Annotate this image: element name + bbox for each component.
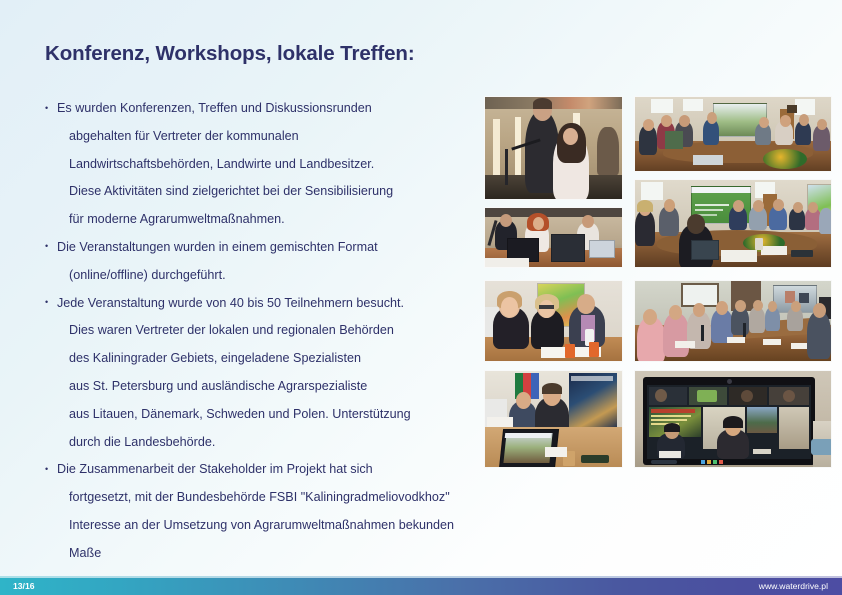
photo-conference-room-green-slide: [634, 179, 832, 268]
bullet-line: Die Veranstaltungen wurden in einem gemi…: [45, 234, 470, 262]
photo-roundtable-presentation: [634, 96, 832, 172]
bullet-line: durch die Landesbehörde.: [45, 429, 470, 457]
photo-long-table-seminar: [634, 280, 832, 362]
list-item: Die Zusammenarbeit der Stakeholder im Pr…: [45, 456, 470, 567]
bullet-line: Diese Aktivitäten sind zielgerichtet bei…: [45, 178, 470, 206]
bullet-line: (online/offline) durchgeführt.: [45, 262, 470, 290]
photo-collage: [484, 96, 832, 468]
bullet-line: Interesse an der Umsetzung von Agrarumwe…: [45, 512, 470, 540]
bullet-line: für moderne Agrarumweltmaßnahmen.: [45, 206, 470, 234]
bullet-line: aus Litauen, Dänemark, Schweden und Pole…: [45, 401, 470, 429]
bullet-line: Dies waren Vertreter der lokalen und reg…: [45, 317, 470, 345]
bullet-line: Die Zusammenarbeit der Stakeholder im Pr…: [45, 456, 470, 484]
bullet-line: abgehalten für Vertreter der kommunalen: [45, 123, 470, 151]
bullet-line: fortgesetzt, mit der Bundesbehörde FSBI …: [45, 484, 470, 512]
photo-online-meeting-desk: [484, 207, 623, 268]
bullet-line: Jede Veranstaltung wurde von 40 bis 50 T…: [45, 290, 470, 318]
page-title: Konferenz, Workshops, lokale Treffen:: [45, 42, 415, 66]
bullet-line: Maße: [45, 540, 470, 568]
photo-panel-with-flags: [484, 370, 623, 468]
page-number: 13/16: [13, 578, 35, 595]
photo-video-conference-screen: [634, 370, 832, 468]
bullet-list: Es wurden Konferenzen, Treffen und Disku…: [45, 95, 470, 568]
footer-bar: 13/16 www.waterdrive.pl: [0, 578, 842, 595]
list-item: Jede Veranstaltung wurde von 40 bis 50 T…: [45, 290, 470, 457]
bullet-line: Landwirtschaftsbehörden, Landwirte und L…: [45, 151, 470, 179]
list-item: Es wurden Konferenzen, Treffen und Disku…: [45, 95, 470, 234]
footer-website-link[interactable]: www.waterdrive.pl: [759, 578, 828, 595]
bullet-line: aus St. Petersburg und ausländische Agra…: [45, 373, 470, 401]
bullet-line: des Kaliningrader Gebiets, eingeladene S…: [45, 345, 470, 373]
bullet-line: Es wurden Konferenzen, Treffen und Disku…: [45, 95, 470, 123]
list-item: Die Veranstaltungen wurden in einem gemi…: [45, 234, 470, 290]
photo-three-participants-map: [484, 280, 623, 362]
presentation-slide: Konferenz, Workshops, lokale Treffen: Es…: [0, 0, 842, 595]
photo-speaker-at-microphone: [484, 96, 623, 200]
